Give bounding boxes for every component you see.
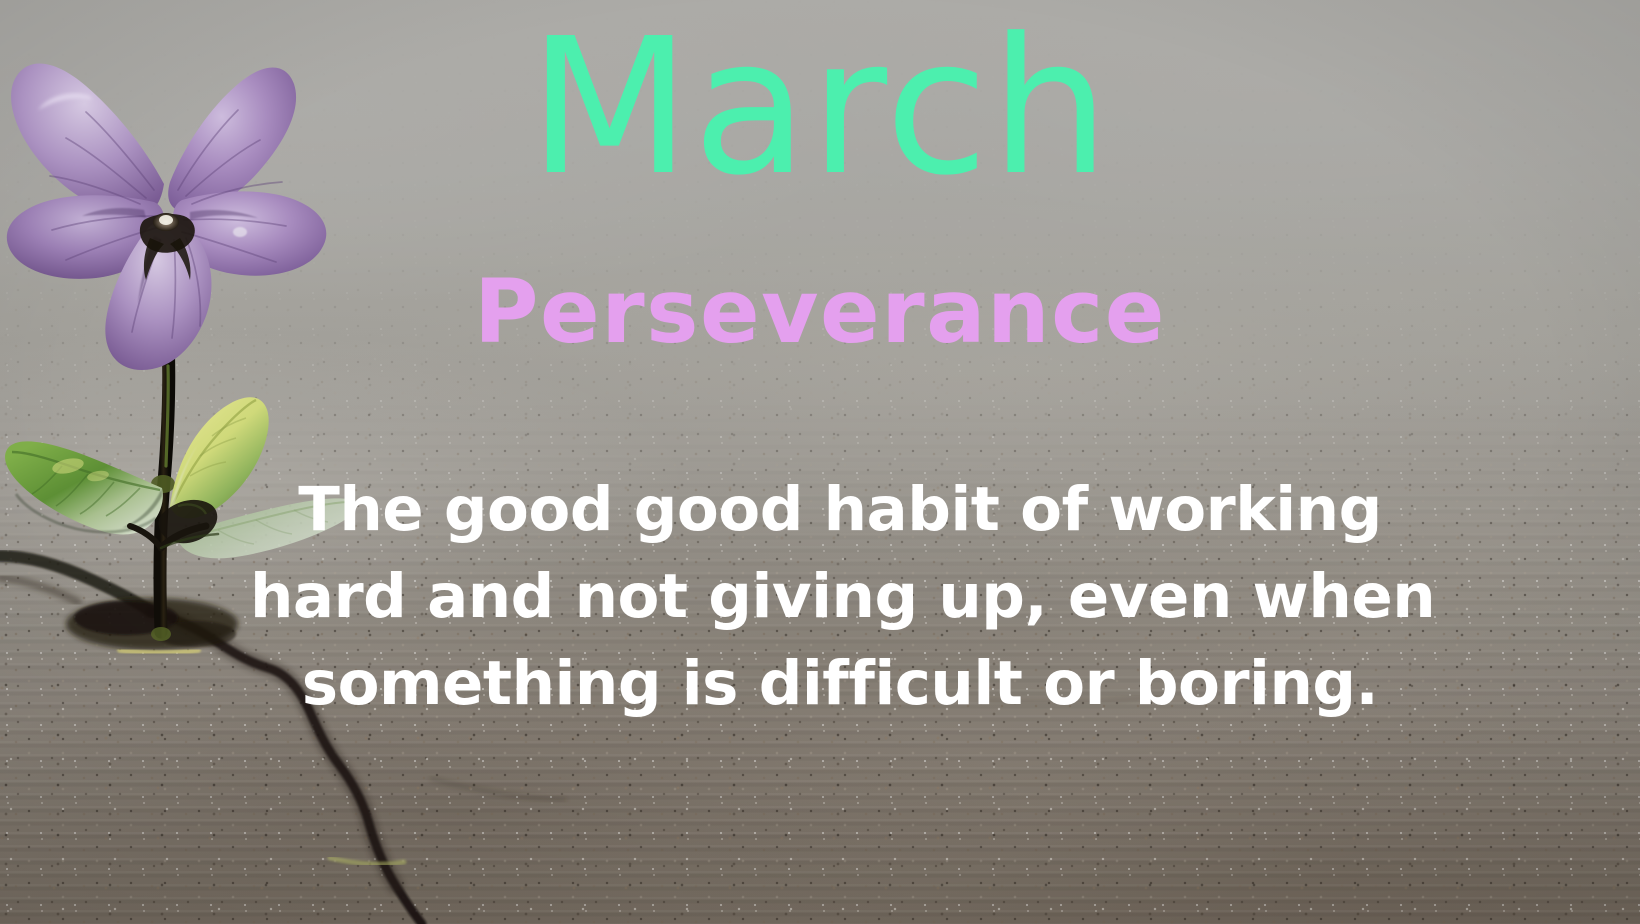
theme-heading: Perseverance [0,268,1640,356]
perseverance-poster: March Perseverance The good good habit o… [0,0,1640,924]
definition-line-1: The good good habit of working [250,466,1430,553]
definition-text: The good good habit of working hard and … [250,466,1430,728]
page-title: March [0,14,1640,202]
leaf-left [5,441,163,534]
definition-line-3: something is difficult or boring. [250,640,1430,727]
definition-line-2: hard and not giving up, even when [250,553,1430,640]
